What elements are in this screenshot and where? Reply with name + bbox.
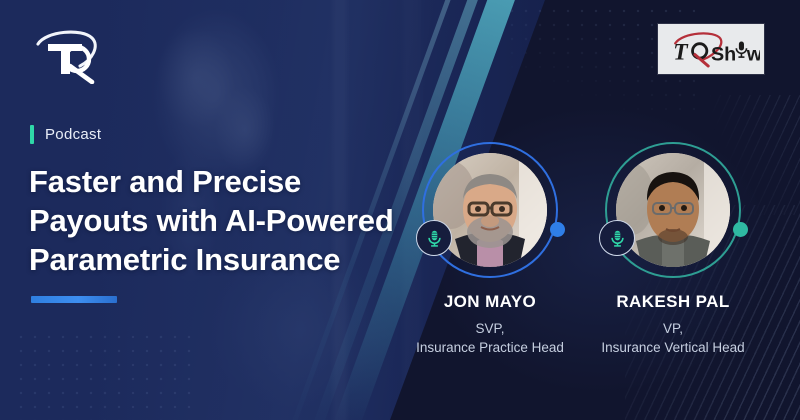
avatar-ring [422,142,558,278]
svg-text:T: T [673,39,689,65]
speaker-name: JON MAYO [400,292,580,312]
headline-line-3: Parametric Insurance [29,240,449,279]
avatar [605,142,741,278]
svg-text:Sh: Sh [711,43,736,65]
tq-show-badge[interactable]: T Sh w [658,24,764,74]
svg-text:w: w [746,43,760,65]
speaker-role-line-1: VP, [663,321,683,336]
microphone-icon [416,220,452,256]
ring-dot [550,222,565,237]
avatar [422,142,558,278]
speaker-role-line-1: SVP, [475,321,504,336]
headline-line-1: Faster and Precise [29,162,449,201]
speaker-role-line-2: Insurance Practice Head [400,338,580,357]
speaker-card-rakesh-pal: RAKESH PAL VP, Insurance Vertical Head [583,142,763,357]
avatar-ring [605,142,741,278]
blue-accent-rule [31,296,117,303]
page-title: Faster and Precise Payouts with AI-Power… [29,162,449,279]
dot-grid-pattern-bottom-left [14,330,199,420]
podcast-banner: T Sh w Podcast Faster and Precise Payout… [0,0,800,420]
speaker-role: VP, Insurance Vertical Head [583,319,763,357]
headline-line-2: Payouts with AI-Powered [29,201,449,240]
ring-dot [733,222,748,237]
tq-logo[interactable] [30,26,104,84]
microphone-icon [599,220,635,256]
speaker-name: RAKESH PAL [583,292,763,312]
speaker-role-line-2: Insurance Vertical Head [583,338,763,357]
speaker-card-jon-mayo: JON MAYO SVP, Insurance Practice Head [400,142,580,357]
eyebrow: Podcast [30,125,101,144]
eyebrow-label: Podcast [45,126,101,143]
speaker-role: SVP, Insurance Practice Head [400,319,580,357]
eyebrow-accent-bar [30,125,34,144]
